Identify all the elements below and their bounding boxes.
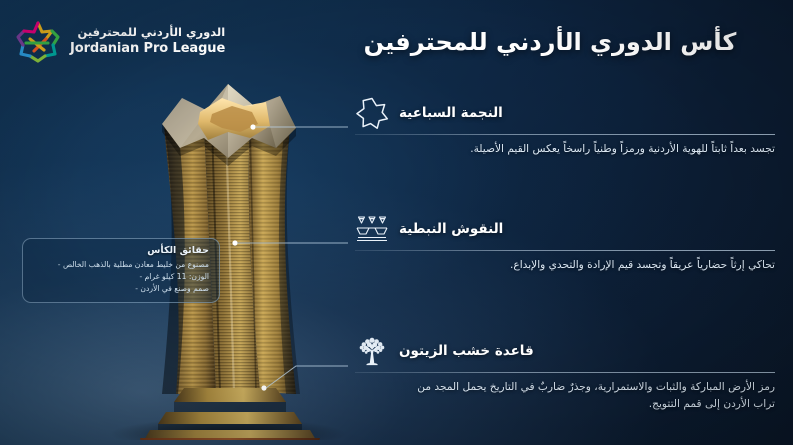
olive-tree-icon xyxy=(355,334,389,368)
feature-divider xyxy=(355,250,775,251)
nabataean-engravings-icon xyxy=(355,212,389,246)
feature-title: النقوش النبطية xyxy=(399,221,503,237)
bullet-dash-icon: - xyxy=(139,272,142,281)
cup-fact-item: صمم وصنع في الأردن - xyxy=(33,283,209,295)
feature-description: تجسد بعداً ثابتاً للهوية الأردنية ورمزاً… xyxy=(355,141,775,158)
bullet-dash-icon: - xyxy=(135,284,138,293)
logo-name-arabic: الدوري الأردني للمحترفين xyxy=(70,27,225,39)
page-title: كأس الدوري الأردني للمحترفين xyxy=(335,28,765,56)
feature-block-nabataean-engravings: النقوش النبطية xyxy=(355,212,775,274)
feature-title: قاعدة خشب الزيتون xyxy=(399,343,534,359)
feature-title: النجمة السباعية xyxy=(399,105,503,121)
feature-block-seven-pointed-star: النجمة السباعية تجسد بعداً ثابتاً للهوية… xyxy=(355,96,775,158)
cup-fact-text: صمم وصنع في الأردن xyxy=(140,284,209,293)
seven-pointed-star-icon xyxy=(355,96,389,130)
cup-facts-box: حقائق الكأس مصنوع من خليط معادن مطلية با… xyxy=(22,238,220,303)
feature-header: قاعدة خشب الزيتون xyxy=(355,334,775,368)
feature-description: رمز الأرض المباركة والثبات والاستمرارية،… xyxy=(355,379,775,413)
cup-facts-title: حقائق الكأس xyxy=(33,245,209,256)
feature-description: تحاكي إرثاً حضارياً عريقاً وتجسد قيم الإ… xyxy=(355,257,775,274)
logo-name-english: Jordanian Pro League xyxy=(70,42,225,55)
feature-block-olive-wood-base: قاعدة خشب الزيتون xyxy=(355,334,775,413)
bullet-dash-icon: - xyxy=(58,260,61,269)
feature-header: النجمة السباعية xyxy=(355,96,775,130)
cup-fact-text: مصنوع من خليط معادن مطلية بالذهب الخالص xyxy=(63,260,209,269)
cup-fact-item: مصنوع من خليط معادن مطلية بالذهب الخالص … xyxy=(33,259,209,271)
cup-fact-item: الوزن: 11 كيلو غرام - xyxy=(33,271,209,283)
jordanian-pro-league-star-logo-icon xyxy=(14,18,62,64)
infographic-canvas: الدوري الأردني للمحترفين Jordanian Pro L… xyxy=(0,0,793,445)
brand-logo[interactable]: الدوري الأردني للمحترفين Jordanian Pro L… xyxy=(14,18,225,64)
cup-fact-text: الوزن: 11 كيلو غرام xyxy=(145,272,209,281)
feature-divider xyxy=(355,372,775,373)
feature-divider xyxy=(355,134,775,135)
feature-header: النقوش النبطية xyxy=(355,212,775,246)
